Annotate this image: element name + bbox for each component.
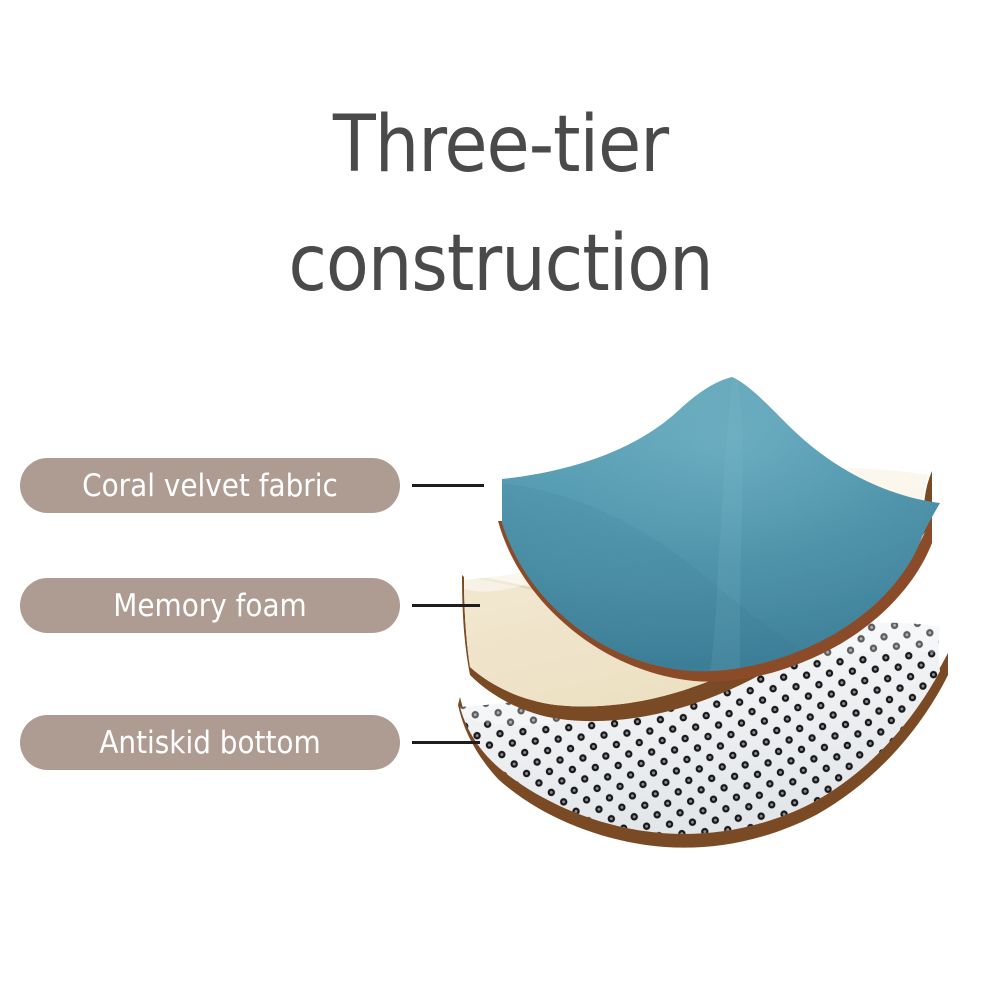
label-pill-coral-velvet-fabric[interactable]: Coral velvet fabric [20, 458, 400, 513]
label-pill-memory-foam[interactable]: Memory foam [20, 578, 400, 633]
label-text-coral-velvet-fabric: Coral velvet fabric [82, 468, 338, 504]
leader-line-antiskid-bottom [412, 741, 480, 744]
label-text-memory-foam: Memory foam [113, 588, 306, 624]
leader-line-coral-velvet-fabric [412, 484, 484, 487]
page-title: Three-tier construction [0, 86, 1001, 323]
cushion-layers-illustration [440, 375, 985, 875]
infographic-root: Three-tier construction [0, 0, 1001, 1001]
leader-line-memory-foam [412, 604, 480, 607]
label-pill-antiskid-bottom[interactable]: Antiskid bottom [20, 715, 400, 770]
label-text-antiskid-bottom: Antiskid bottom [99, 725, 320, 761]
